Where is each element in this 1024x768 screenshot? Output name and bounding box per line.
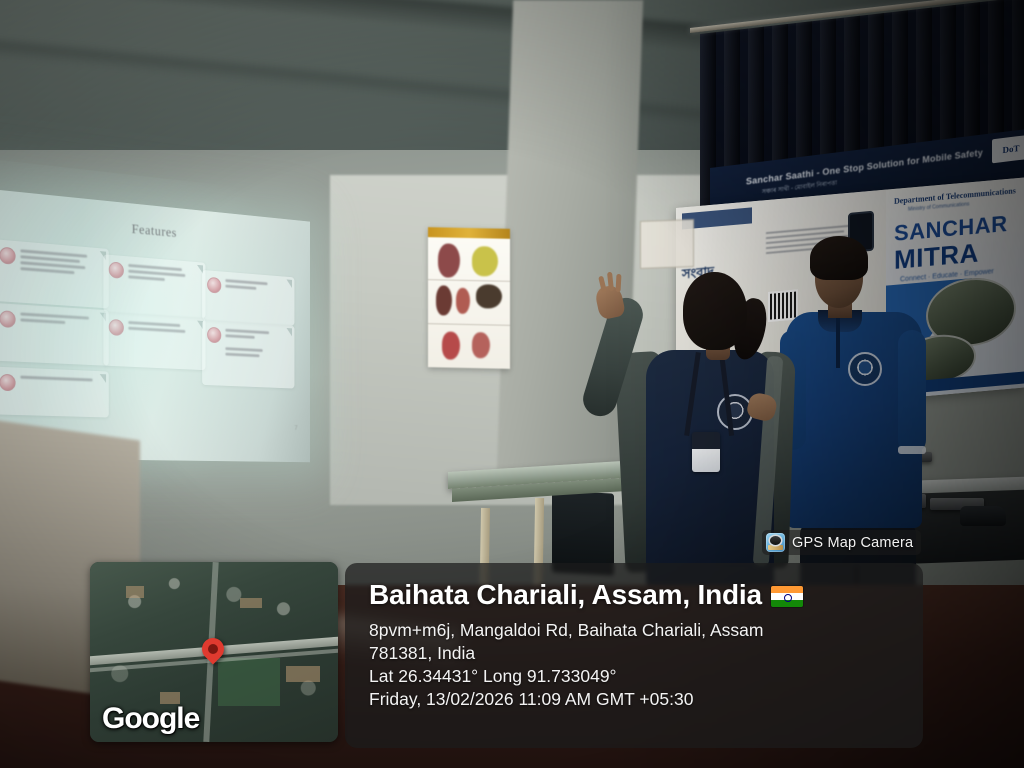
map-building [286,666,320,682]
gps-address-line-2: 781381, India [369,642,909,665]
gps-info-panel: Baihata Chariali, Assam, India 8pvm+m6j,… [345,563,923,748]
wifi-icon [109,319,124,336]
human-anatomy-chart-poster [428,227,510,369]
feature-card [0,367,109,418]
projection-screen: Features [0,188,310,462]
presentation-slide: Features [0,199,304,452]
male-sleeve-cuff [898,446,926,454]
gps-map-camera-photo: Sanchar Saathi - One Stop Solution for M… [0,0,1024,768]
card-corner-marker [287,279,293,288]
phone-icon [109,261,124,278]
male-hair [810,236,868,280]
shield-icon [0,247,16,265]
gps-map-camera-watermark: GPS Map Camera [762,530,921,555]
organ-graphic [456,288,470,314]
male-sleeve-right [898,330,926,454]
banner-qr-code [768,289,798,322]
organ-graphic [472,332,490,358]
feature-card [202,270,294,326]
gps-address-line-1: 8pvm+m6j, Mangaldoi Rd, Baihata Chariali… [369,619,909,642]
slide-page-number: 7 [294,425,297,431]
poster-header-band [428,227,510,239]
female-hair [683,272,747,350]
feature-card [103,312,205,370]
organ-graphic [436,285,452,315]
gps-detail-lines: 8pvm+m6j, Mangaldoi Rd, Baihata Chariali… [369,619,909,711]
uniform-logo-patch [848,352,882,386]
feature-card [0,303,109,366]
dot-logo: DoT [992,135,1024,164]
map-building [126,586,144,598]
device-icon [0,310,16,328]
card-corner-marker [100,374,106,383]
card-corner-marker [287,328,293,336]
organ-graphic [472,246,498,277]
feature-card [0,239,109,308]
contact-icon [0,374,16,391]
camera-app-icon [766,533,785,552]
gps-place-text: Baihata Chariali, Assam, India [369,579,762,610]
id-badge [692,432,720,472]
alert-icon [207,277,221,294]
gps-place-name: Baihata Chariali, Assam, India [369,579,803,611]
shoe [960,506,1006,526]
organ-graphic [476,284,502,309]
gps-timestamp: Friday, 13/02/2026 11:09 AM GMT +05:30 [369,688,909,711]
gps-coordinates: Lat 26.34431° Long 91.733049° [369,665,909,688]
gps-map-camera-label: GPS Map Camera [792,535,913,551]
organ-graphic [438,243,460,277]
india-flag-icon [771,586,803,607]
block-icon [207,327,221,344]
male-polo-placket [836,318,840,368]
map-thumbnail[interactable]: Google [90,562,338,742]
map-field-area [218,658,280,706]
wall-notice-paper [640,219,694,269]
slide-feature-cards [0,239,299,448]
organ-graphic [442,331,460,359]
feature-card [202,320,294,389]
google-watermark: Google [102,702,199,736]
feature-card [103,254,205,318]
map-building [240,598,262,608]
